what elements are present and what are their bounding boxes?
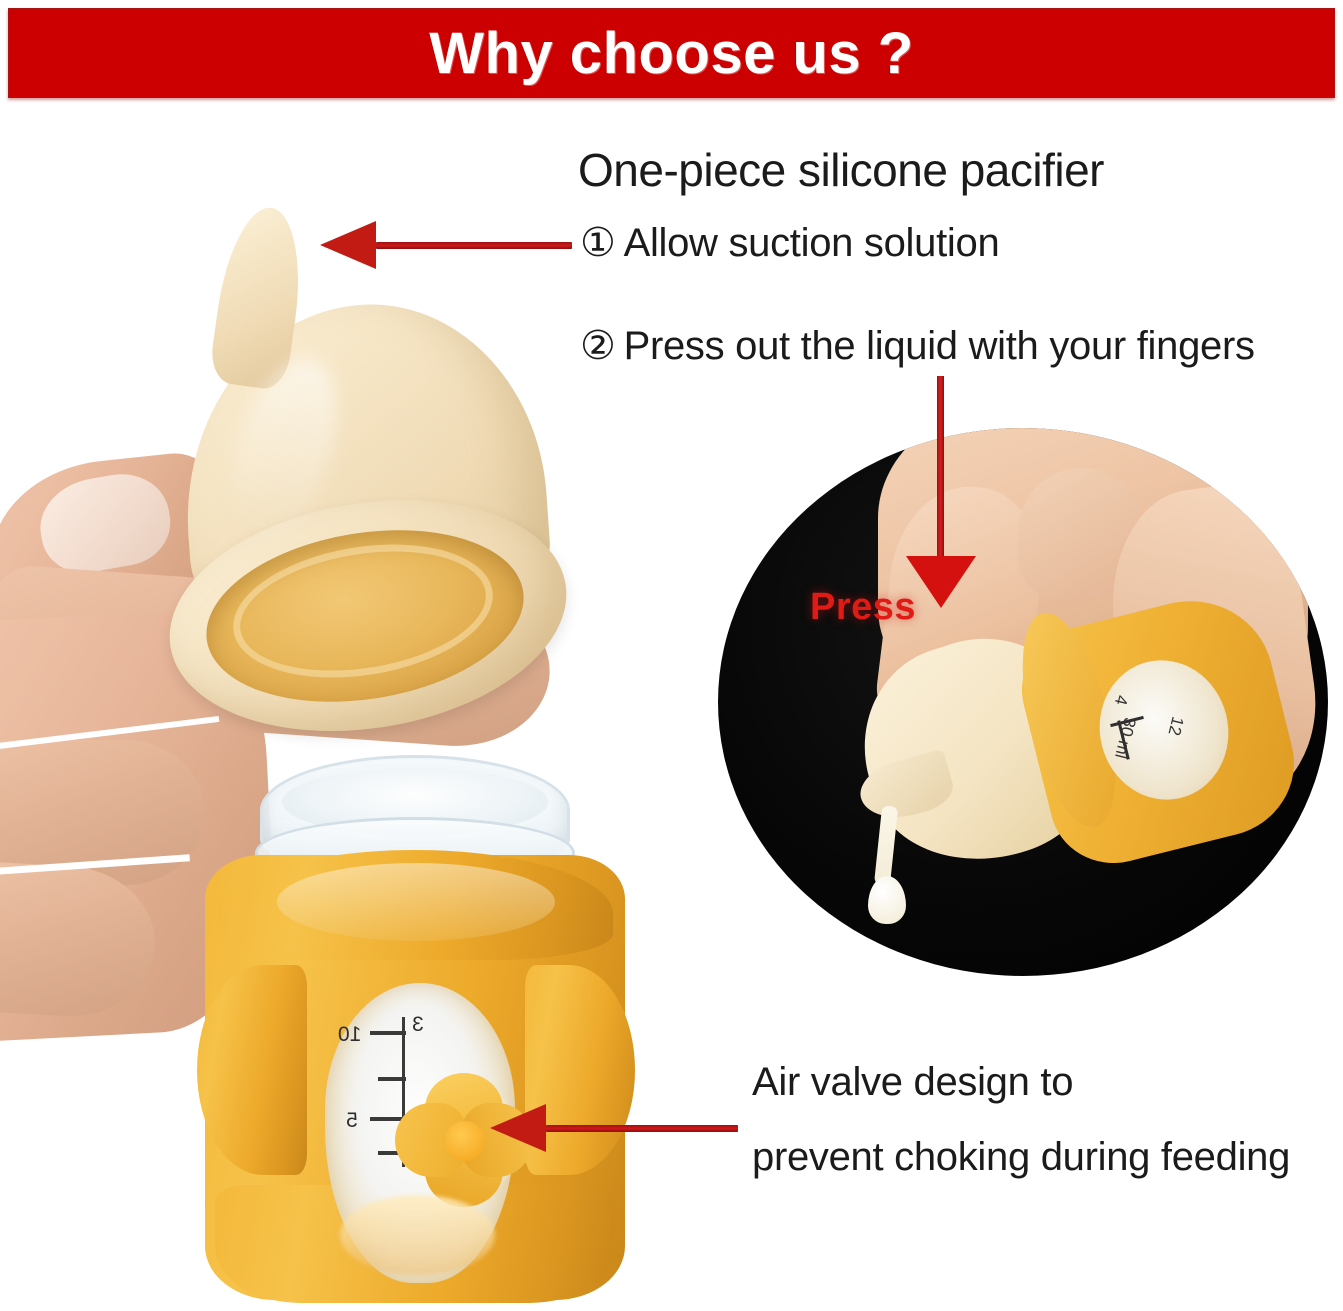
press-demo-inset: 4 30 ml 12 Press	[718, 428, 1328, 976]
air-valve-callout-line1: Air valve design to	[752, 1060, 1073, 1105]
bottle-inner-glass	[277, 863, 555, 941]
milk-drop	[868, 876, 906, 924]
page-title: Why choose us ?	[429, 20, 913, 87]
feature-allow-suction: ①Allow suction solution	[580, 220, 999, 266]
photo-bottle: 3 10 5	[205, 755, 625, 1300]
graduation-label: 3	[412, 1013, 424, 1037]
air-valve-callout-line2: prevent choking during feeding	[752, 1135, 1290, 1180]
graduation-label: 5	[346, 1109, 358, 1133]
arrow-to-pacifier-icon	[320, 215, 572, 275]
arrow-to-inset-icon	[906, 376, 976, 608]
marker-two: ②	[580, 323, 616, 369]
milk-stream	[874, 805, 898, 886]
feature-allow-suction-label: Allow suction solution	[624, 221, 1000, 265]
graduation-label: 10	[338, 1023, 361, 1047]
feature-press-liquid-label: Press out the liquid with your fingers	[624, 324, 1255, 368]
infographic-page: Why choose us ?	[0, 0, 1343, 1311]
header-banner: Why choose us ?	[8, 8, 1335, 98]
headline: One-piece silicone pacifier	[578, 143, 1104, 197]
bottle-window-sheen	[340, 1195, 495, 1275]
photo-pacifier-in-hand	[0, 185, 600, 805]
arrow-to-valve-icon	[490, 1098, 738, 1158]
press-label: Press	[810, 586, 916, 629]
feature-press-liquid: ②Press out the liquid with your fingers	[580, 323, 1255, 369]
marker-one: ①	[580, 220, 616, 266]
